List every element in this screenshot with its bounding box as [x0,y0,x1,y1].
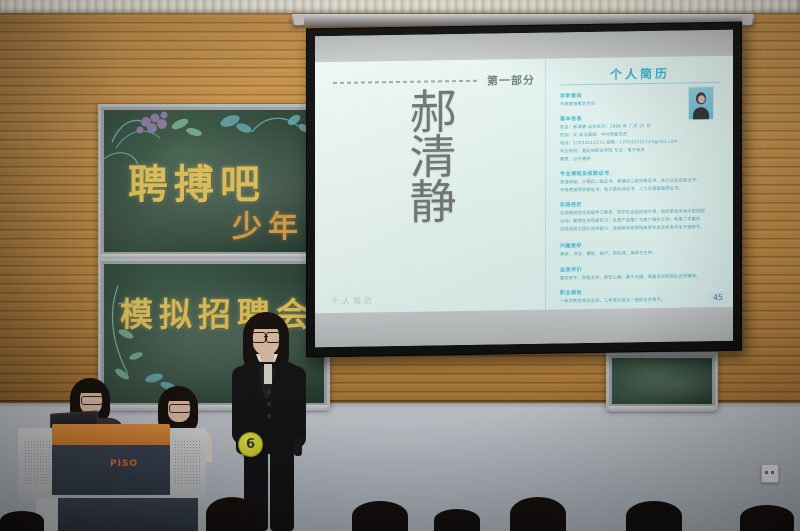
slide-page-number: 45 [708,292,728,303]
resume-heading-1: 基本信息 [560,115,582,122]
resume-text-2-1: 市场营销师资格证书、电子商务师证书、人力资源管理师证书。 [560,185,722,194]
wall-outlet [761,464,779,483]
resume-text-6-0: 一年内熟悉岗位业务，三年成为独当一面的业务骨干。 [560,296,722,305]
lectern-speaker-left [18,428,56,500]
resume-title: 个人简历 [546,64,733,84]
lectern-base [58,498,198,531]
blackboard-upper-left: 聘搏吧 少年 [98,104,330,258]
resume-text-5-0: 踏实肯干、积极主动、责任心强、善于沟通、具备良好的团队合作精神。 [560,273,722,282]
screen-letterbox-bottom [315,307,733,348]
audience-head [510,497,566,531]
audience-head [206,497,258,531]
name-char-2: 清 [373,135,493,182]
resume-heading-5: 自我评价 [560,266,582,273]
resume-heading-0: 求职意向 [560,92,582,99]
lectern-front-panel [52,445,170,495]
slide-dash-rule [333,80,479,84]
resume-heading-2: 专业课程及技能证书 [560,170,610,178]
slide-content: 第一部分 郝 清 静 个人简历 个人简历 求职意向 [315,56,733,314]
resume-heading-6: 职业规划 [560,289,582,296]
projection-screen: 第一部分 郝 清 静 个人简历 个人简历 求职意向 [306,22,742,358]
audience-head [740,505,794,531]
ceiling [0,0,800,14]
resume-text-3-2: 实践经验与团队协作能力，连续两年获得院级奖学金及优秀学生干部称号。 [560,224,722,233]
resume-text-0: 市场营销策划专员 [560,100,678,109]
lectern-desktop [52,424,170,446]
blackboard-right-panel [606,352,718,410]
resume-heading-4: 兴趣爱好 [560,242,582,249]
blackboard-headline-2: 少年 [232,202,304,246]
resume-text-1-4: 籍贯：山东德州 [560,155,680,164]
lectern-brand-logo: PISO [110,459,138,469]
slide-resume-panel: 个人简历 求职意向 市场营销策划专员 基本信息 姓名：郝清静 出生年月：1996… [545,56,733,310]
resume-text-4-0: 阅读、书法、摄影、旅行、羽毛球、演讲与主持。 [560,249,722,258]
slide-part-label: 第一部分 [487,72,535,89]
audience-head [434,509,480,531]
resume-id-photo [688,86,714,120]
slide-presenter-name: 郝 清 静 [373,89,493,226]
presenter-glasses [252,332,280,341]
lectern-speaker-right [168,428,206,500]
resume-heading-3: 实践经历 [560,201,582,208]
classroom-photo: 聘搏吧 少年 模拟招聘会 [0,0,800,531]
chalk-tray-right [609,406,715,413]
name-char-3: 静 [373,180,493,227]
audience-head [0,511,44,531]
name-char-1: 郝 [373,89,493,136]
audience-head [626,501,682,531]
resume-text-1-3: 毕业院校：曹妃甸职业学院 专业：电子商务 [560,146,720,155]
slide-left-panel: 第一部分 郝 清 静 个人简历 [315,59,545,314]
slide-faint-footer: 个人简历 [331,295,375,307]
contestant-number-badge: 6 [238,432,263,457]
multimedia-lectern: PISO [18,424,226,531]
presenter-handheld-device [294,438,302,456]
audience-head [352,501,408,531]
